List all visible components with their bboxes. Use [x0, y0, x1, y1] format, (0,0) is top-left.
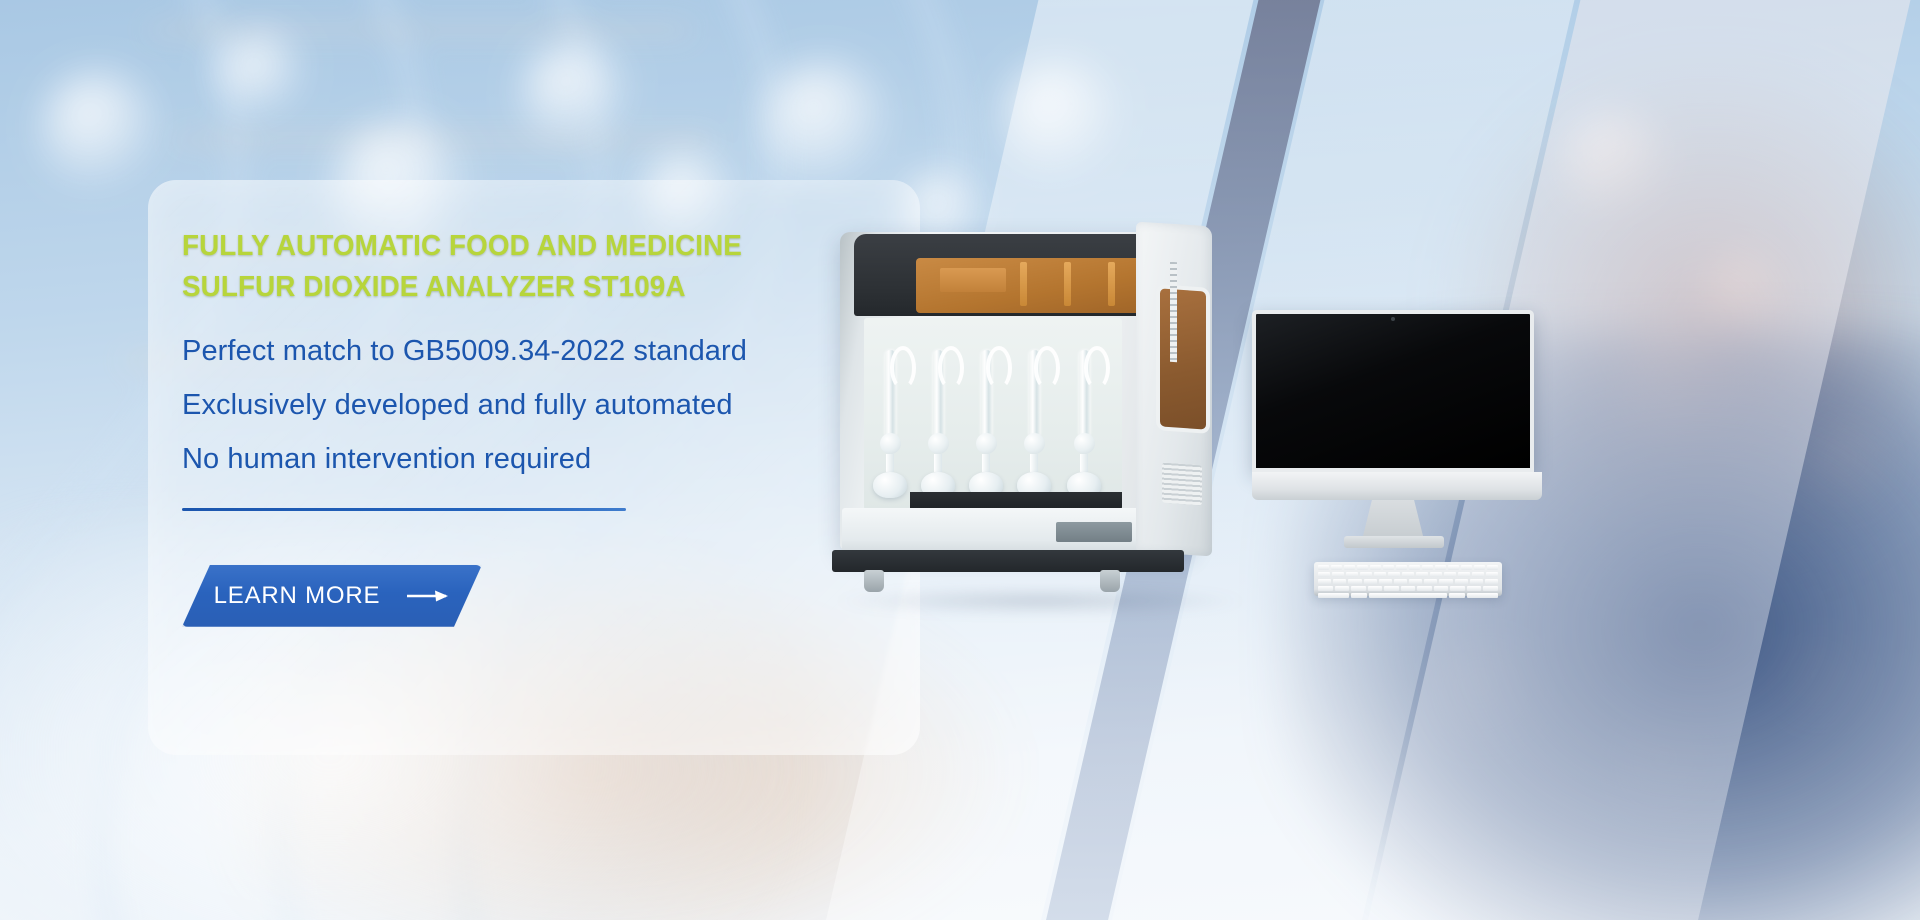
computer-workstation-image — [1252, 310, 1592, 600]
glass-bulb — [976, 433, 997, 454]
tubing-icon — [938, 346, 964, 390]
keyboard-row — [1318, 572, 1498, 577]
tubing-icon — [986, 346, 1012, 390]
tagline-list: Perfect match to GB5009.34-2022 standard… — [182, 334, 882, 476]
keyboard-row — [1318, 586, 1498, 591]
instrument-top-hood — [854, 234, 1166, 316]
instrument-glass-chamber — [864, 318, 1122, 510]
learn-more-label: LEARN MORE — [214, 582, 381, 610]
learn-more-button[interactable]: LEARN MORE — [182, 565, 482, 627]
sulfur-dioxide-analyzer-image — [818, 222, 1248, 592]
tubing-icon — [1084, 346, 1110, 390]
glass-bulb — [1074, 433, 1095, 454]
keyboard-row — [1318, 565, 1498, 570]
glass-bulb — [880, 433, 901, 454]
instrument-side-slits — [1170, 262, 1177, 362]
tagline-item-2: Exclusively developed and fully automate… — [182, 388, 882, 423]
glass-stem — [982, 454, 990, 472]
instrument-vent-grille — [1162, 463, 1202, 506]
instrument-foot-right — [1100, 570, 1120, 592]
monitor-stand-base — [1344, 536, 1444, 548]
glass-stem — [1080, 454, 1088, 472]
page-title: FULLY AUTOMATIC FOOD AND MEDICINE SULFUR… — [182, 226, 854, 308]
webcam-icon — [1391, 317, 1395, 321]
instrument-badge — [940, 268, 1006, 292]
tubing-icon — [1034, 346, 1060, 390]
glass-bulb — [1024, 433, 1045, 454]
glass-stem — [886, 454, 894, 472]
round-bottom-flask — [873, 472, 907, 498]
tagline-item-3: No human intervention required — [182, 442, 882, 477]
instrument-base-bar — [832, 550, 1184, 572]
monitor-stand-neck — [1362, 500, 1424, 540]
instrument-nameplate — [1056, 522, 1132, 542]
glass-stem — [934, 454, 942, 472]
arrow-right-icon — [406, 589, 450, 603]
hero-banner: FULLY AUTOMATIC FOOD AND MEDICINE SULFUR… — [0, 0, 1920, 920]
keyboard-row — [1318, 579, 1498, 584]
tagline-item-1: Perfect match to GB5009.34-2022 standard — [182, 334, 882, 369]
divider — [182, 508, 626, 511]
monitor-screen — [1252, 310, 1534, 472]
glass-bulb — [928, 433, 949, 454]
card-content: FULLY AUTOMATIC FOOD AND MEDICINE SULFUR… — [182, 180, 882, 627]
keyboard-row — [1318, 593, 1498, 598]
monitor-bezel-chin — [1252, 472, 1542, 500]
instrument-side-window — [1160, 288, 1206, 429]
tubing-icon — [890, 346, 916, 390]
cta-container: LEARN MORE — [182, 565, 492, 627]
instrument-front-panel — [842, 508, 1172, 554]
instrument-foot-left — [864, 570, 884, 592]
keyboard — [1314, 562, 1502, 596]
glass-stem — [1030, 454, 1038, 472]
